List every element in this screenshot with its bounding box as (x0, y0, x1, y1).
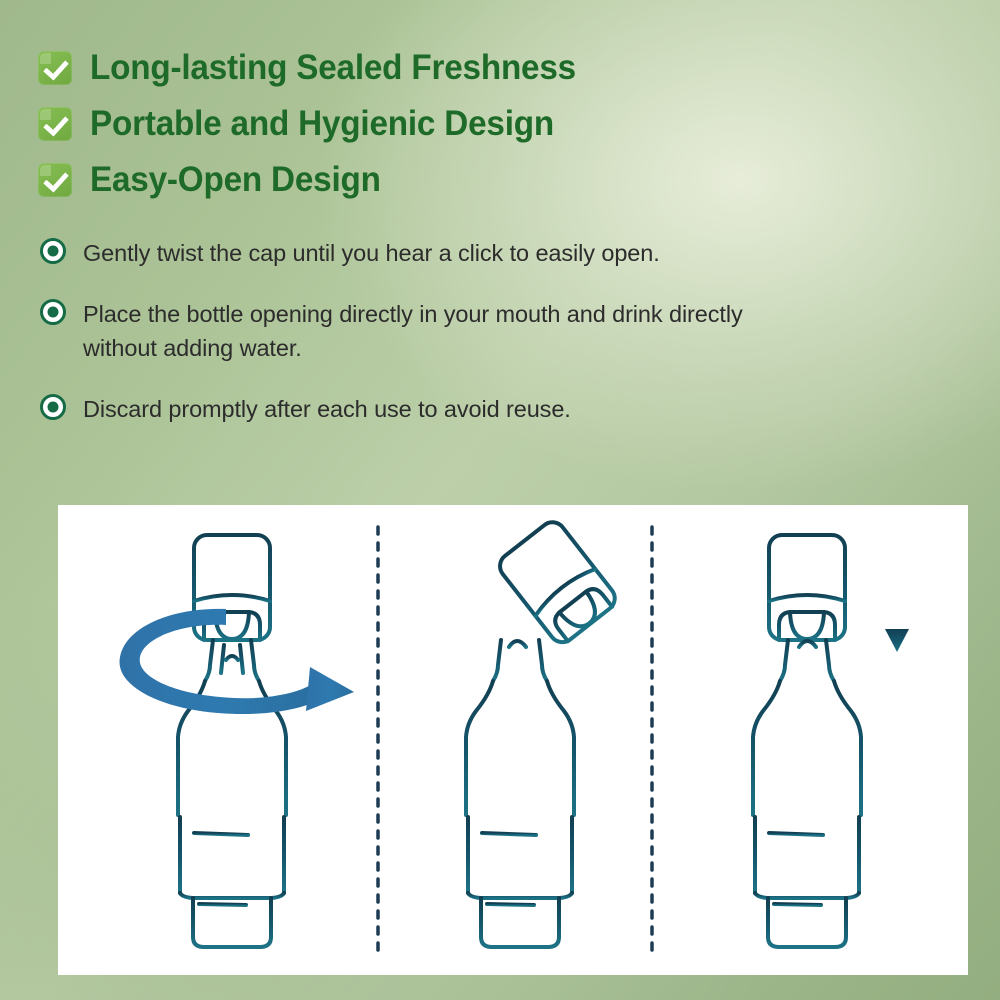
instruction-item: Gently twist the cap until you hear a cl… (40, 236, 830, 270)
twist-cap-step (120, 535, 354, 955)
check-square-icon (38, 51, 72, 85)
instruction-list: Gently twist the cap until you hear a cl… (40, 236, 830, 453)
check-square-icon (38, 163, 72, 197)
radio-dot-icon (40, 394, 66, 420)
poster-background: Long-lasting Sealed Freshness Portable a… (0, 0, 1000, 1000)
radio-dot-icon (40, 238, 66, 264)
instruction-label: Place the bottle opening directly in you… (83, 297, 803, 365)
feature-label: Long-lasting Sealed Freshness (90, 48, 576, 88)
instruction-item: Discard promptly after each use to avoid… (40, 392, 830, 426)
feature-list: Long-lasting Sealed Freshness Portable a… (38, 44, 898, 212)
check-gloss (40, 53, 51, 64)
check-gloss (40, 165, 51, 176)
instruction-label: Gently twist the cap until you hear a cl… (83, 236, 660, 270)
illustration-panel (58, 505, 968, 975)
replace-cap-step (746, 535, 909, 955)
feature-item: Portable and Hygienic Design (38, 100, 898, 147)
remove-cap-step (456, 517, 620, 955)
feature-item: Easy-Open Design (38, 156, 898, 203)
radio-dot-icon (40, 299, 66, 325)
feature-label: Easy-Open Design (90, 160, 381, 200)
feature-item: Long-lasting Sealed Freshness (38, 44, 898, 91)
feature-label: Portable and Hygienic Design (90, 104, 554, 144)
check-gloss (40, 109, 51, 120)
instruction-label: Discard promptly after each use to avoid… (83, 392, 571, 426)
instruction-item: Place the bottle opening directly in you… (40, 297, 830, 365)
check-square-icon (38, 107, 72, 141)
